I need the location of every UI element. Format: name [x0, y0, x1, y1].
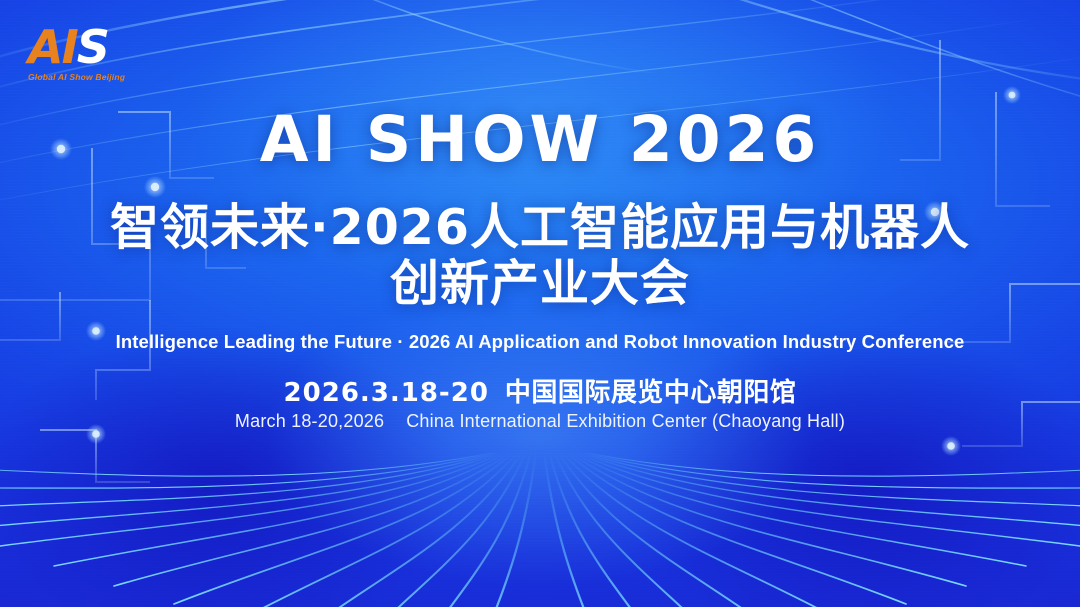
- logo-letter-s: S: [77, 20, 108, 74]
- date-venue-chinese: 2026.3.18-20中国国际展览中心朝阳馆: [0, 372, 1080, 409]
- english-subtitle: Intelligence Leading the Future · 2026 A…: [0, 331, 1080, 353]
- logo-letter-i: I: [62, 20, 77, 74]
- event-venue-chinese: 中国国际展览中心朝阳馆: [505, 378, 797, 408]
- date-venue-english: March 18-20,2026China International Exhi…: [0, 411, 1080, 432]
- event-date-chinese: 2026.3.18-20: [284, 378, 489, 408]
- chinese-headline-line-2: 创新产业大会: [0, 256, 1080, 312]
- page-title: AI SHOW 2026: [0, 108, 1080, 171]
- event-date-english: March 18-20,2026: [235, 411, 384, 431]
- logo-tagline: Global AI Show Beijing: [28, 72, 138, 82]
- chinese-headline-line-1: 智领未来·2026人工智能应用与机器人: [0, 200, 1080, 256]
- chinese-headline: 智领未来·2026人工智能应用与机器人 创新产业大会: [0, 200, 1080, 312]
- logo-letter-a: A: [28, 20, 62, 74]
- event-venue-english: China International Exhibition Center (C…: [406, 411, 845, 431]
- logo-mark: AIS: [28, 24, 138, 70]
- ais-logo[interactable]: AIS Global AI Show Beijing: [28, 24, 138, 82]
- conference-poster: AIS Global AI Show Beijing AI SHOW 2026 …: [0, 0, 1080, 607]
